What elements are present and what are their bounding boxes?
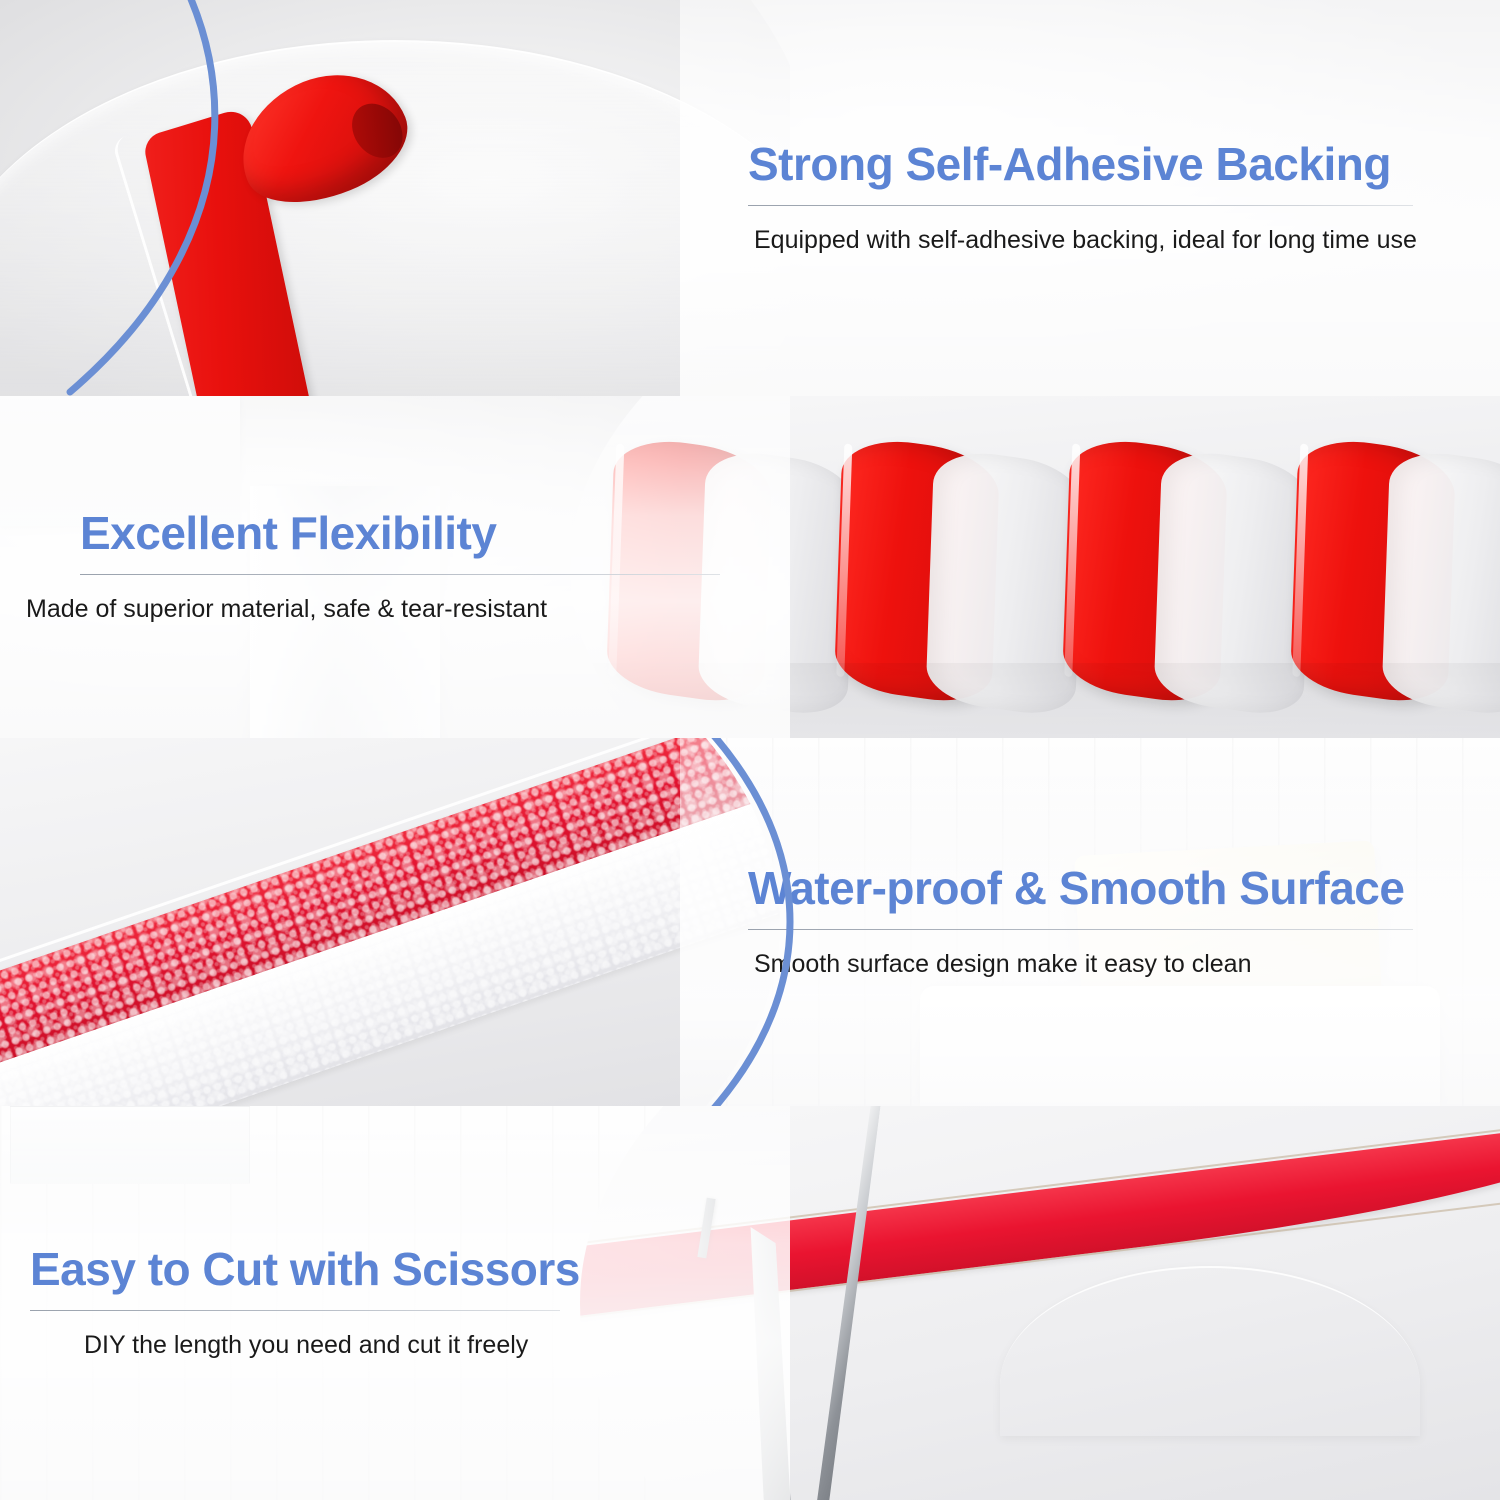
feature-row-easy-to-cut-with-scissors: Easy to Cut with Scissors DIY the length… <box>0 1106 1500 1500</box>
feature-row-water-proof-smooth-surface: Water-proof & Smooth Surface Smooth surf… <box>0 738 1500 1106</box>
feature-heading-2: Excellent Flexibility <box>22 509 750 558</box>
feature-text-panel-4: Easy to Cut with Scissors DIY the length… <box>0 1106 790 1500</box>
feature-divider-3 <box>748 929 1413 930</box>
feature-heading-4: Easy to Cut with Scissors <box>22 1245 750 1294</box>
feature-subtitle-1: Equipped with self-adhesive backing, ide… <box>748 225 1470 256</box>
feature-text-panel-3: Water-proof & Smooth Surface Smooth surf… <box>680 738 1500 1106</box>
feature-subtitle-3: Smooth surface design make it easy to cl… <box>748 949 1470 980</box>
feature-image-panel-1 <box>0 0 790 396</box>
feature-divider-4 <box>30 1310 560 1311</box>
feature-row-strong-self-adhesive-backing: Strong Self-Adhesive Backing Equipped wi… <box>0 0 1500 396</box>
feature-divider-2 <box>80 574 720 575</box>
feature-heading-1: Strong Self-Adhesive Backing <box>748 140 1470 189</box>
infographic-canvas: Strong Self-Adhesive Backing Equipped wi… <box>0 0 1500 1500</box>
feature-divider-1 <box>748 205 1413 206</box>
feature-subtitle-4: DIY the length you need and cut it freel… <box>22 1330 750 1361</box>
feature-subtitle-2: Made of superior material, safe & tear-r… <box>22 594 750 625</box>
feature-heading-3: Water-proof & Smooth Surface <box>748 864 1470 913</box>
feature-text-panel-2: Excellent Flexibility Made of superior m… <box>0 396 790 738</box>
product-photo-red-tape-peeling <box>0 0 790 396</box>
feature-text-panel-1: Strong Self-Adhesive Backing Equipped wi… <box>680 0 1500 396</box>
feature-row-excellent-flexibility: Excellent Flexibility Made of superior m… <box>0 396 1500 738</box>
